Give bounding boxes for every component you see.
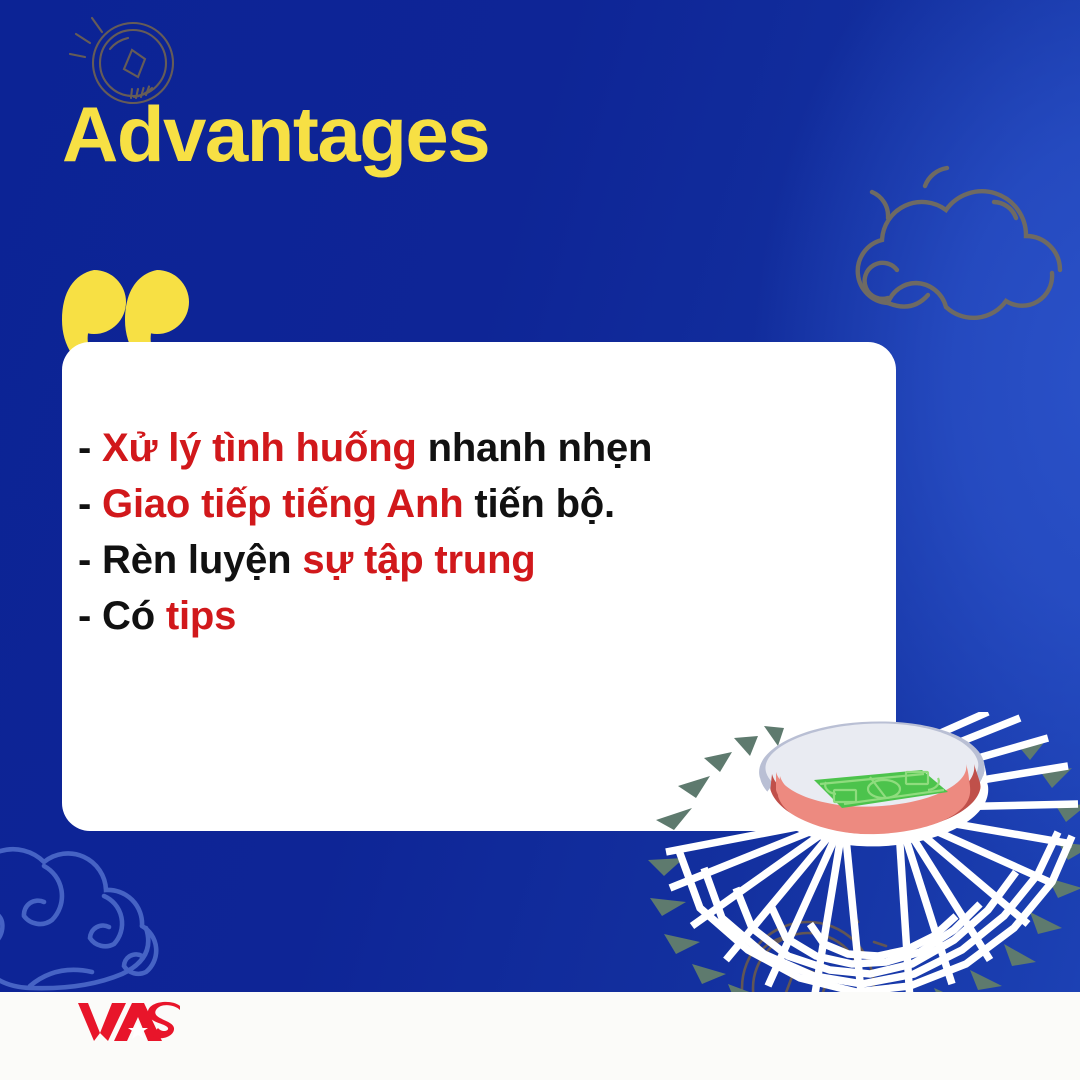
vas-logo [70,1000,182,1044]
bullet-dash: - [78,426,91,470]
slide-canvas: Advantages - Xử lý tình huống nhanh nhẹn… [0,0,1080,1080]
bullet-plain: tiến bộ. [463,482,615,526]
bullet-highlight: Giao tiếp tiếng Anh [102,482,463,526]
bullet-highlight: Xử lý tình huống [102,426,417,470]
advantages-list: - Xử lý tình huống nhanh nhẹn - Giao tiế… [78,420,878,644]
list-item: - Giao tiếp tiếng Anh tiến bộ. [78,476,878,532]
bullet-dash: - [78,482,91,526]
cloud-outline-icon [590,150,1080,370]
bullet-highlight: tips [155,594,236,638]
page-title: Advantages [62,95,489,173]
list-item: - Xử lý tình huống nhanh nhẹn [78,420,878,476]
bullet-dash: - [78,538,91,582]
bullet-plain: Có [102,594,155,638]
bullet-dash: - [78,594,91,638]
slide-background: Advantages - Xử lý tình huống nhanh nhẹn… [0,0,1080,992]
isometric-stadium-illustration [648,712,1080,992]
list-item: - Có tips [78,588,878,644]
cloud-outline-icon [0,818,292,992]
bullet-highlight: sự tập trung [291,538,535,582]
bullet-plain: Rèn luyện [102,538,291,582]
bullet-plain: nhanh nhẹn [417,426,653,470]
list-item: - Rèn luyện sự tập trung [78,532,878,588]
footer-bar: VIETNAMESE ASSOCIATION AT SENECA COLLEGE [0,992,1080,1080]
vas-logo-mark [70,1000,182,1044]
